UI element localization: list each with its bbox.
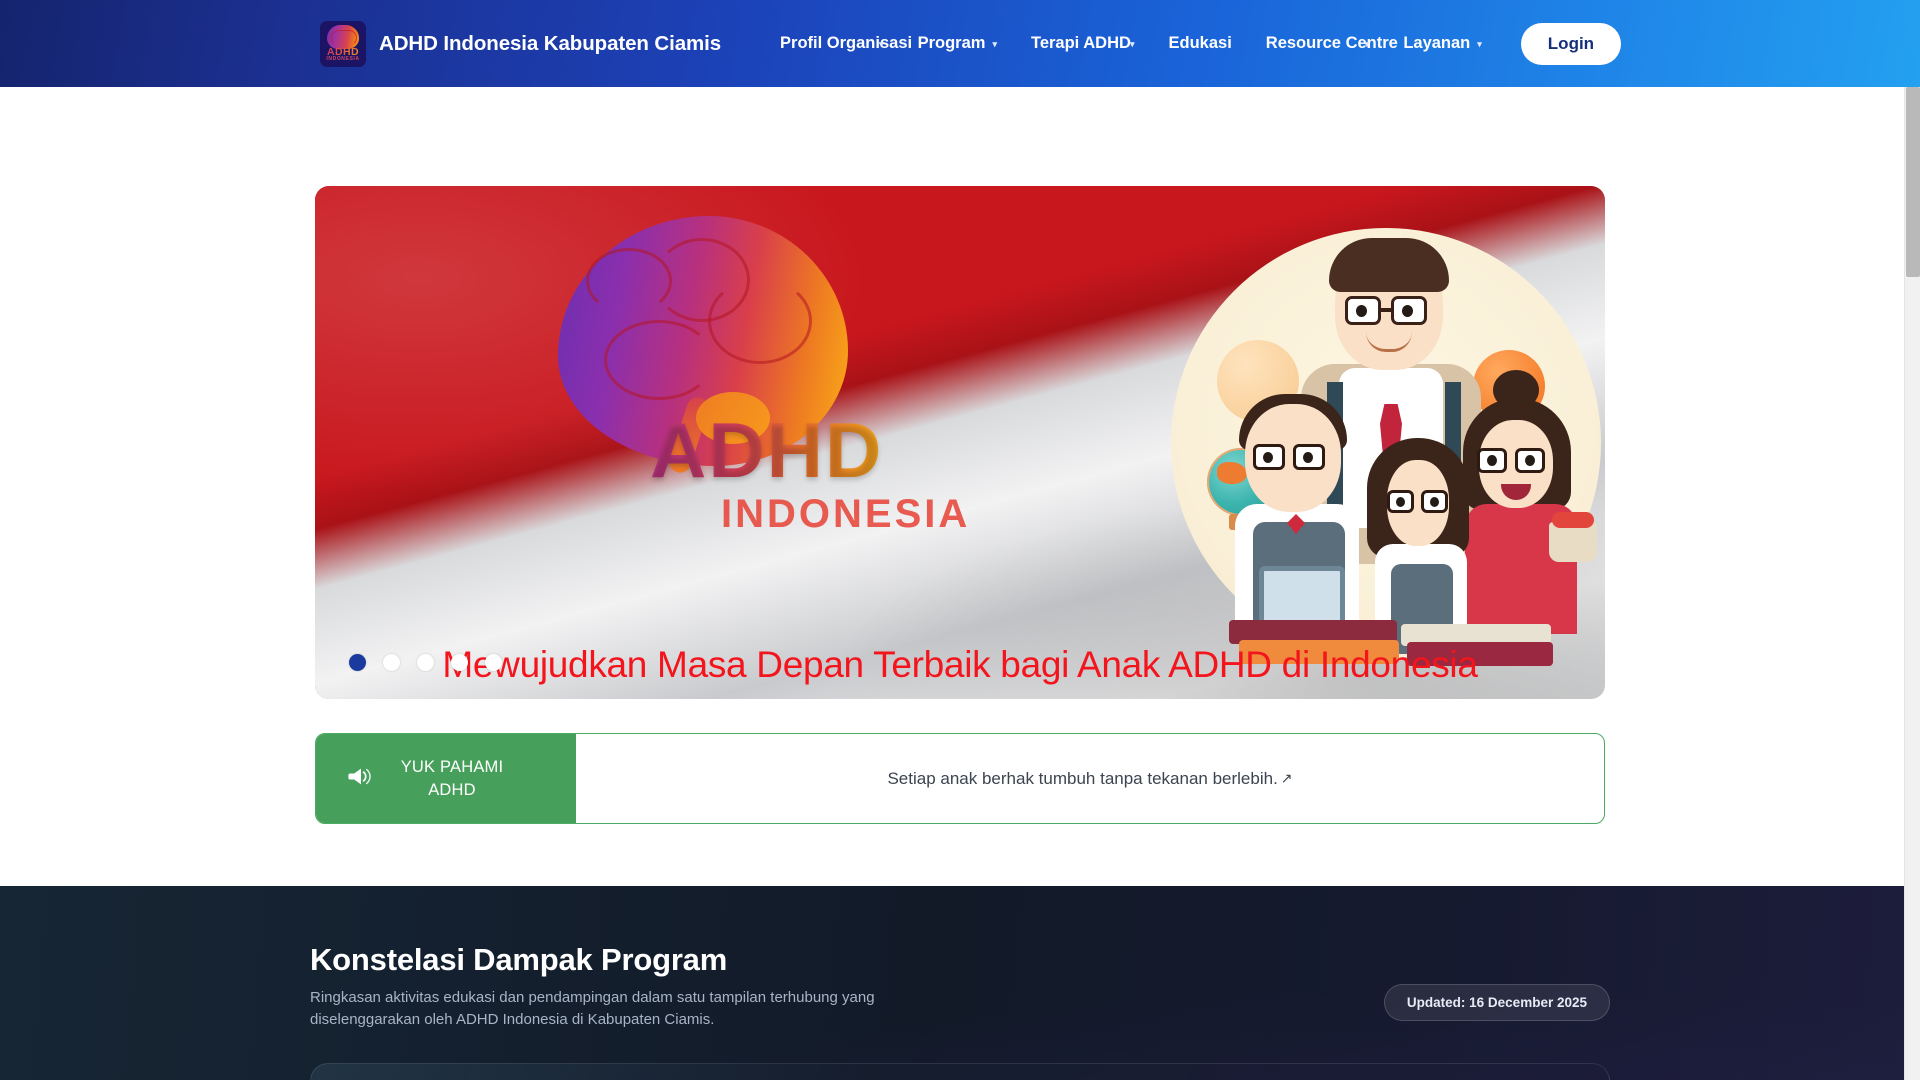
page-scrollbar-track[interactable] <box>1904 87 1920 1080</box>
chevron-down-icon: ▾ <box>992 40 997 49</box>
cta-badge[interactable]: YUK PAHAMI ADHD <box>316 734 576 823</box>
login-button[interactable]: Login <box>1521 23 1621 65</box>
cta-badge-label: YUK PAHAMI ADHD <box>387 756 517 801</box>
girl-eye-right <box>1430 497 1439 507</box>
carousel-dot-4[interactable] <box>451 654 468 671</box>
chevron-down-icon: ▾ <box>879 40 884 49</box>
megaphone-icon <box>348 767 371 790</box>
boy-eye-left <box>1263 452 1273 463</box>
chevron-down-icon: ▾ <box>1130 40 1135 49</box>
page-scrollbar-thumb[interactable] <box>1906 87 1920 277</box>
chevron-down-icon: ▾ <box>1477 40 1482 49</box>
nav-label-layanan: Layanan <box>1403 33 1470 54</box>
hero-overlay-word-indonesia: INDONESIA <box>721 492 970 537</box>
girl-eye-left <box>1396 497 1405 507</box>
nav-item-edukasi[interactable]: Edukasi <box>1152 33 1249 54</box>
arrow-up-right-icon: ↗ <box>1281 770 1293 787</box>
nav-item-profil-organisasi[interactable]: Profil Organisasi ▾ <box>763 33 901 54</box>
cta-banner[interactable]: YUK PAHAMI ADHD Setiap anak berhak tumbu… <box>315 733 1605 824</box>
tablet-icon <box>1259 566 1345 628</box>
brand[interactable]: ADHD INDONESIA ADHD Indonesia Kabupaten … <box>320 21 721 67</box>
fruit-basket-icon <box>1549 522 1597 562</box>
adhd-brain-logo-icon: ADHD INDONESIA <box>320 21 366 67</box>
adult-hair <box>1329 238 1449 292</box>
carousel-dot-1[interactable] <box>349 654 366 671</box>
cta-message-text: Setiap anak berhak tumbuh tanpa tekanan … <box>887 769 1277 789</box>
nav-item-program[interactable]: Program ▾ <box>901 33 1014 54</box>
boy-eye-right <box>1303 452 1313 463</box>
updated-badge: Updated: 16 December 2025 <box>1384 984 1610 1021</box>
content-area: ADHD INDONESIA <box>0 87 1920 1080</box>
main-nav: Profil Organisasi ▾ Program ▾ Terapi ADH… <box>763 23 1621 65</box>
nav-item-resource-centre[interactable]: Resource Centre ▾ <box>1249 33 1387 54</box>
adult-eye-right <box>1402 305 1413 317</box>
teen-eye-left <box>1487 455 1497 466</box>
header-inner: ADHD INDONESIA ADHD Indonesia Kabupaten … <box>310 21 1610 67</box>
nav-item-terapi-adhd[interactable]: Terapi ADHD ▾ <box>1014 33 1152 54</box>
site-header: ADHD INDONESIA ADHD Indonesia Kabupaten … <box>0 0 1920 87</box>
hero-caption: Mewujudkan Masa Depan Terbaik bagi Anak … <box>315 644 1605 686</box>
impact-section-title: Konstelasi Dampak Program <box>310 942 1610 978</box>
brain-fold <box>708 278 812 364</box>
brand-title: ADHD Indonesia Kabupaten Ciamis <box>379 32 721 56</box>
impact-section-inner: Konstelasi Dampak Program Ringkasan akti… <box>310 942 1610 1080</box>
chevron-down-icon: ▾ <box>1365 40 1370 49</box>
carousel-dot-3[interactable] <box>417 654 434 671</box>
nav-label-program: Program <box>918 33 986 54</box>
adult-eye-left <box>1356 305 1367 317</box>
teen-eye-right <box>1525 455 1535 466</box>
nav-label-profil-organisasi: Profil Organisasi <box>780 33 872 54</box>
nav-label-terapi-adhd: Terapi ADHD <box>1031 33 1123 54</box>
carousel-dots <box>349 654 502 671</box>
hero-overlay-word-adhd: ADHD <box>650 405 883 496</box>
carousel-dot-5[interactable] <box>485 654 502 671</box>
logo-text-sub: INDONESIA <box>320 56 366 62</box>
hero-carousel-wrapper: ADHD INDONESIA <box>315 87 1605 699</box>
adult-glasses-bridge <box>1381 308 1391 312</box>
cta-message[interactable]: Setiap anak berhak tumbuh tanpa tekanan … <box>576 734 1604 823</box>
page-root: ADHD INDONESIA ADHD Indonesia Kabupaten … <box>0 0 1920 1080</box>
nav-item-layanan[interactable]: Layanan ▾ <box>1386 33 1498 54</box>
carousel-dot-2[interactable] <box>383 654 400 671</box>
nav-label-resource-centre: Resource Centre <box>1266 33 1358 54</box>
nav-label-edukasi: Edukasi <box>1169 33 1232 54</box>
family-illustration <box>1153 222 1605 672</box>
impact-section-subtitle: Ringkasan aktivitas edukasi dan pendampi… <box>310 987 950 1031</box>
impact-section: Konstelasi Dampak Program Ringkasan akti… <box>0 886 1920 1080</box>
constellation-card[interactable] <box>310 1063 1610 1080</box>
hero-carousel[interactable]: ADHD INDONESIA <box>315 186 1605 699</box>
brain-fold <box>604 320 714 400</box>
cta-wrapper: YUK PAHAMI ADHD Setiap anak berhak tumbu… <box>315 733 1605 824</box>
